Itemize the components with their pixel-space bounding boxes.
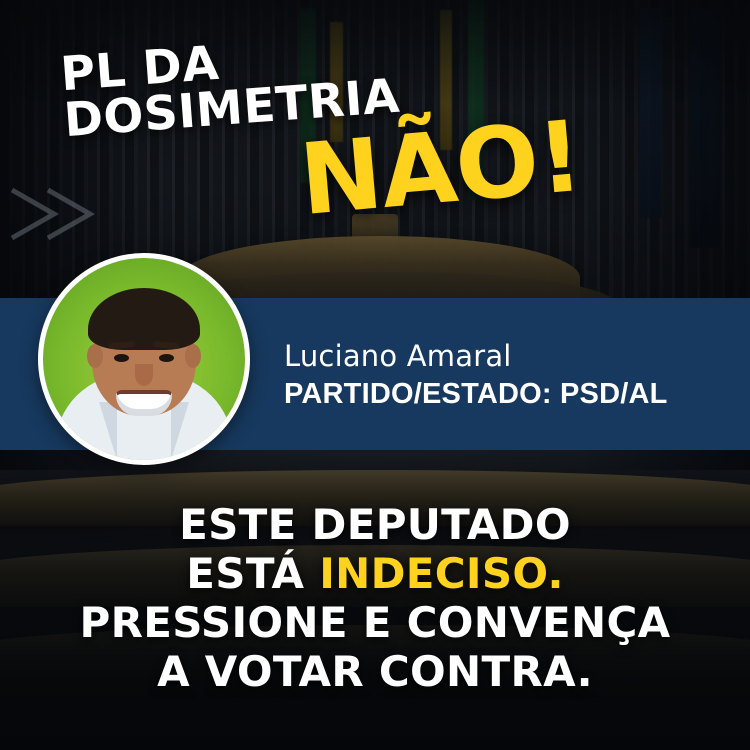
deputy-photo (38, 253, 250, 465)
campaign-poster: PL DA DOSIMETRIA NÃO! Luciano Amaral PAR… (0, 0, 750, 750)
portrait-ear-left (87, 344, 103, 368)
portrait-hair (88, 288, 200, 350)
cta-line-2: ESTÁ INDECISO. (0, 549, 750, 598)
headline-emphasis: NÃO! (297, 113, 585, 225)
portrait-collar-right (171, 402, 189, 460)
call-to-action-text: ESTE DEPUTADO ESTÁ INDECISO. PRESSIONE E… (0, 500, 750, 697)
portrait-ear-right (185, 344, 201, 368)
portrait-nose (135, 364, 153, 386)
portrait-eye-left (114, 354, 129, 362)
deputy-info-text: Luciano Amaral PARTIDO/ESTADO: PSD/AL (284, 338, 668, 414)
cta-line-3: PRESSIONE E CONVENÇA (0, 598, 750, 647)
cta-line-2-prefix: ESTÁ (186, 549, 319, 598)
portrait-collar-left (99, 402, 117, 460)
portrait-eye-right (159, 354, 174, 362)
cta-line-4: A VOTAR CONTRA. (0, 647, 750, 696)
wall-chevron-decoration (8, 186, 98, 242)
cta-line-1: ESTE DEPUTADO (0, 500, 750, 549)
deputy-party-state: PARTIDO/ESTADO: PSD/AL (284, 376, 668, 414)
deputy-name: Luciano Amaral (284, 338, 668, 374)
cta-status-highlight: INDECISO. (319, 549, 563, 598)
